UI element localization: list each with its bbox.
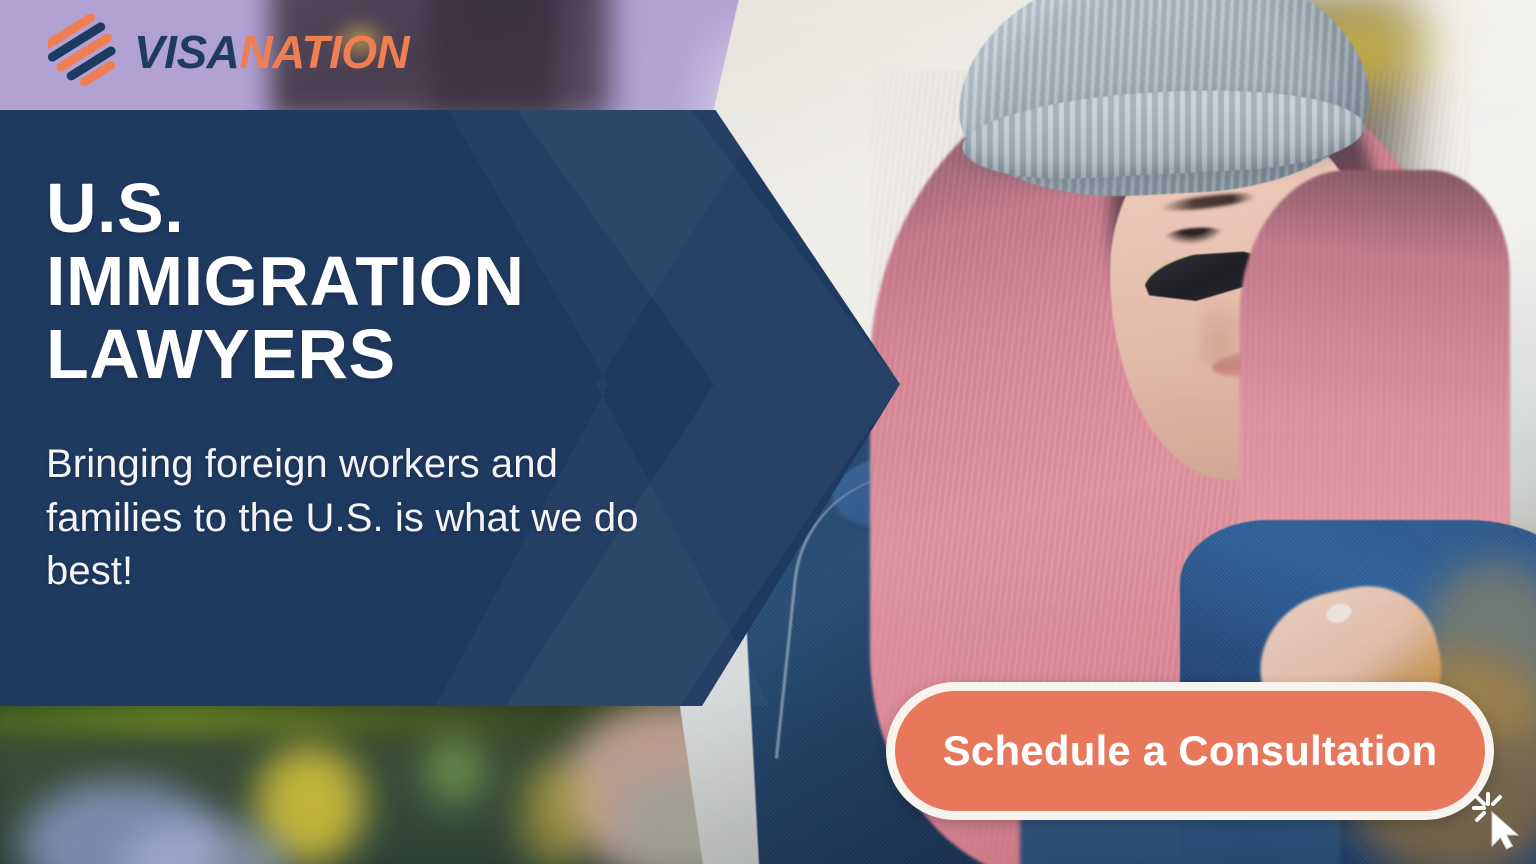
background-bokeh-light (520, 760, 590, 864)
brand-wordmark-visa: VISA (134, 26, 239, 78)
background-building-silhouette-secondary (430, 0, 610, 120)
headline-line-1: U.S. (46, 169, 184, 247)
hero-subheadline: Bringing foreign workers and families to… (46, 438, 686, 598)
hero-copy: U.S. IMMIGRATION LAWYERS Bringing foreig… (46, 172, 686, 598)
brand-wordmark: VISANATION (134, 29, 409, 75)
page-title: U.S. IMMIGRATION LAWYERS (46, 172, 686, 390)
hero-banner: VISANATION U.S. IMMIGRATION LAWYERS Brin… (0, 0, 1536, 864)
schedule-consultation-button[interactable]: Schedule a Consultation (886, 682, 1494, 820)
brand-wordmark-nation: NATION (239, 26, 409, 78)
brand-logo[interactable]: VISANATION (48, 14, 409, 90)
headline-line-2: IMMIGRATION (46, 242, 525, 320)
globe-stripes-icon (48, 14, 120, 90)
background-bokeh-light (425, 735, 485, 805)
headline-line-3: LAWYERS (46, 315, 396, 393)
